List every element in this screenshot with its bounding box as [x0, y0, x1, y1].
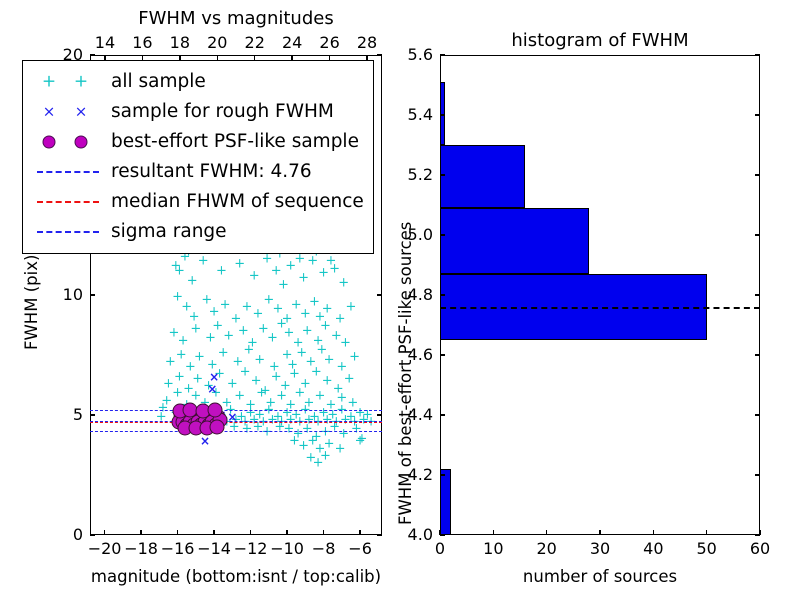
scatter-point-psf	[173, 404, 188, 419]
histogram-y-tick-label: 4.0	[408, 527, 433, 543]
histogram-x-tick-label: 50	[696, 541, 716, 557]
left-top-tick-label: 16	[132, 35, 152, 51]
scatter-point-all: +	[293, 428, 304, 441]
scatter-point-all: +	[271, 370, 282, 383]
scatter-point-all: +	[276, 389, 287, 402]
left-x-tick-label: −12	[234, 541, 268, 557]
scatter-point-all: +	[289, 368, 300, 381]
left-x-tick-label: −8	[312, 541, 336, 557]
histogram-title: histogram of FWHM	[511, 30, 688, 51]
scatter-point-all: +	[320, 449, 331, 462]
scatter-point-all: +	[232, 356, 243, 369]
scatter-point-all: +	[314, 389, 325, 402]
scatter-point-all: +	[282, 313, 293, 326]
scatter-point-all: +	[252, 308, 263, 321]
scatter-point-all: +	[205, 332, 216, 345]
scatter-point-all: +	[346, 301, 357, 314]
histogram-data-area	[440, 55, 760, 535]
left-top-tick-label: 18	[170, 35, 190, 51]
cross-marker-icon: ×	[75, 105, 88, 120]
histogram-x-tick-label: 20	[536, 541, 556, 557]
scatter-point-all: +	[178, 334, 189, 347]
scatter-point-all: +	[265, 397, 276, 410]
histogram-bar	[440, 469, 451, 535]
reference-line-sigma-lower	[90, 431, 382, 432]
histogram-y-tick-label: 4.2	[408, 467, 433, 483]
scatter-point-all: +	[349, 351, 360, 364]
dashdot-line-icon	[37, 231, 99, 233]
scatter-point-rough: ×	[174, 402, 184, 414]
histogram-y-tick-label: 5.0	[408, 227, 433, 243]
left-top-tick-label: 26	[319, 35, 339, 51]
left-plot-title: FWHM vs magnitudes	[138, 8, 333, 29]
scatter-point-all: +	[203, 380, 214, 393]
circle-marker-icon	[75, 136, 88, 149]
scatter-point-all: +	[254, 353, 265, 366]
figure-canvas: FWHM vs magnitudes magnitude (bottom:isn…	[0, 0, 800, 600]
left-top-tick-label: 14	[95, 35, 115, 51]
scatter-point-all: +	[269, 361, 280, 374]
histogram-x-tick-label: 0	[435, 541, 445, 557]
scatter-point-all: +	[335, 313, 346, 326]
scatter-point-all: +	[194, 351, 205, 364]
histogram-y-tick-label: 4.4	[408, 407, 433, 423]
histogram-x-tick-label: 30	[590, 541, 610, 557]
scatter-point-all: +	[231, 313, 242, 326]
scatter-point-all: +	[278, 279, 289, 292]
reference-line-median-fhwm-of-sequence	[90, 422, 382, 423]
scatter-point-all: +	[305, 356, 316, 369]
scatter-point-all: +	[227, 377, 238, 390]
left-top-tick-label: 28	[357, 35, 377, 51]
legend-item[interactable]: ××sample for rough FWHM	[29, 97, 365, 127]
dashed-line-icon	[37, 201, 99, 203]
circle-marker-icon	[43, 136, 56, 149]
scatter-point-all: +	[298, 272, 309, 285]
scatter-point-all: +	[263, 293, 274, 306]
scatter-point-all: +	[185, 361, 196, 374]
scatter-point-all: +	[302, 423, 313, 436]
scatter-point-all: +	[314, 442, 325, 455]
scatter-point-all: +	[294, 253, 305, 266]
scatter-point-all: +	[165, 356, 176, 369]
scatter-point-all: +	[183, 382, 194, 395]
scatter-point-all: +	[335, 442, 346, 455]
scatter-point-psf	[194, 417, 209, 432]
scatter-point-rough: ×	[200, 435, 210, 447]
legend-item-label: sigma range	[107, 223, 227, 242]
scatter-point-all: +	[294, 387, 305, 400]
histogram-y-tick-label: 5.6	[408, 47, 433, 63]
scatter-point-psf	[179, 417, 194, 432]
scatter-point-all: +	[355, 435, 366, 448]
legend-item[interactable]: ++all sample	[29, 67, 365, 97]
scatter-point-all: +	[245, 406, 256, 419]
scatter-point-all: +	[340, 337, 351, 350]
scatter-point-all: +	[283, 327, 294, 340]
scatter-point-all: +	[356, 433, 367, 446]
plus-marker-icon: +	[74, 74, 88, 91]
scatter-point-all: +	[305, 452, 316, 465]
scatter-point-psf	[208, 417, 223, 432]
histogram-x-tick-label: 40	[643, 541, 663, 557]
scatter-point-all: +	[190, 322, 201, 335]
scatter-point-all: +	[198, 255, 209, 268]
scatter-point-all: +	[318, 267, 329, 280]
scatter-point-all: +	[234, 389, 245, 402]
scatter-point-all: +	[316, 344, 327, 357]
plot-legend: ++all sample××sample for rough FWHMbest-…	[22, 60, 374, 254]
scatter-point-psf	[201, 417, 216, 432]
scatter-point-all: +	[329, 262, 340, 275]
scatter-point-all: +	[355, 406, 366, 419]
scatter-point-all: +	[309, 296, 320, 309]
dashed-line-icon	[37, 171, 99, 173]
scatter-point-all: +	[307, 255, 318, 268]
plus-marker-icon: +	[42, 74, 56, 91]
scatter-point-all: +	[161, 394, 172, 407]
legend-item-label: resultant FWHM: 4.76	[107, 163, 312, 182]
scatter-point-rough: ×	[209, 371, 219, 383]
scatter-point-all: +	[260, 385, 271, 398]
cross-marker-icon: ×	[43, 105, 56, 120]
scatter-point-all: +	[324, 437, 335, 450]
scatter-point-all: +	[296, 346, 307, 359]
left-x-tick-label: −6	[348, 541, 372, 557]
scatter-point-all: +	[298, 440, 309, 453]
scatter-point-all: +	[256, 387, 267, 400]
scatter-point-all: +	[181, 301, 192, 314]
scatter-point-all: +	[300, 308, 311, 321]
scatter-point-all: +	[344, 373, 355, 386]
scatter-point-all: +	[267, 332, 278, 345]
scatter-point-all: +	[276, 317, 287, 330]
scatter-point-all: +	[293, 337, 304, 350]
histogram-bar	[440, 208, 589, 274]
scatter-point-all: +	[158, 401, 169, 414]
scatter-point-all: +	[209, 305, 220, 318]
left-x-axis-label: magnitude (bottom:isnt / top:calib)	[91, 567, 381, 586]
scatter-point-all: +	[314, 310, 325, 323]
scatter-point-all: +	[170, 260, 181, 273]
scatter-point-all: +	[336, 392, 347, 405]
scatter-point-all: +	[271, 265, 282, 278]
scatter-point-all: +	[168, 327, 179, 340]
scatter-point-all: +	[200, 397, 211, 410]
histogram-y-tick-label: 5.2	[408, 167, 433, 183]
left-y-tick-label: 0	[73, 527, 83, 543]
scatter-point-psf	[196, 404, 211, 419]
scatter-point-all: +	[324, 353, 335, 366]
scatter-point-all: +	[189, 310, 200, 323]
scatter-point-all: +	[241, 301, 252, 314]
scatter-point-all: +	[172, 291, 183, 304]
scatter-point-all: +	[336, 361, 347, 374]
scatter-point-all: +	[243, 344, 254, 357]
scatter-point-all: +	[338, 428, 349, 441]
scatter-point-all: +	[192, 373, 203, 386]
scatter-point-all: +	[234, 257, 245, 270]
scatter-point-all: +	[174, 265, 185, 278]
scatter-point-all: +	[210, 387, 221, 400]
scatter-point-all: +	[216, 265, 227, 278]
scatter-point-all: +	[307, 435, 318, 448]
scatter-point-all: +	[320, 320, 331, 333]
scatter-point-all: +	[283, 423, 294, 436]
scatter-point-all: +	[304, 397, 315, 410]
left-x-tick-label: −10	[270, 541, 304, 557]
scatter-point-all: +	[302, 325, 313, 338]
scatter-point-all: +	[282, 349, 293, 362]
histogram-y-tick-label: 5.4	[408, 107, 433, 123]
legend-item-label: best-effort PSF-like sample	[107, 133, 359, 152]
legend-item-label: median FHWM of sequence	[107, 193, 364, 212]
scatter-point-all: +	[313, 457, 324, 470]
legend-item-label: all sample	[107, 73, 206, 92]
scatter-point-psf	[187, 417, 202, 432]
scatter-point-all: +	[174, 370, 185, 383]
scatter-point-all: +	[190, 389, 201, 402]
scatter-point-all: +	[325, 255, 336, 268]
histogram-x-axis-label: number of sources	[523, 567, 677, 586]
scatter-point-all: +	[347, 397, 358, 410]
scatter-point-all: +	[251, 375, 262, 388]
scatter-point-all: +	[170, 406, 181, 419]
histogram-bar	[440, 145, 525, 208]
left-y-tick-label: 10	[63, 287, 83, 303]
scatter-point-all: +	[262, 253, 273, 266]
histogram-x-tick-label: 60	[750, 541, 770, 557]
scatter-point-rough: ×	[207, 383, 217, 395]
histogram-reference-line	[440, 307, 760, 309]
scatter-point-all: +	[287, 358, 298, 371]
reference-line-sigma-upper	[90, 410, 382, 411]
scatter-point-all: +	[205, 406, 216, 419]
scatter-point-all: +	[247, 337, 258, 350]
scatter-point-all: +	[163, 377, 174, 390]
scatter-point-all: +	[285, 260, 296, 273]
scatter-point-all: +	[172, 387, 183, 400]
scatter-point-all: +	[221, 397, 232, 410]
left-top-tick-label: 20	[207, 35, 227, 51]
scatter-point-all: +	[249, 269, 260, 282]
scatter-point-all: +	[201, 293, 212, 306]
scatter-point-all: +	[280, 380, 291, 393]
scatter-point-rough: ×	[204, 407, 214, 419]
left-y-tick-label: 5	[73, 407, 83, 423]
scatter-point-all: +	[207, 358, 218, 371]
scatter-point-all: +	[187, 274, 198, 287]
scatter-point-all: +	[318, 406, 329, 419]
scatter-point-all: +	[220, 298, 231, 311]
scatter-point-all: +	[238, 325, 249, 338]
left-top-tick-label: 22	[245, 35, 265, 51]
scatter-point-all: +	[241, 423, 252, 436]
scatter-point-all: +	[291, 298, 302, 311]
scatter-point-all: +	[338, 277, 349, 290]
scatter-point-all: +	[176, 349, 187, 362]
scatter-point-all: +	[351, 423, 362, 436]
legend-item[interactable]: sigma range	[29, 217, 365, 247]
legend-item-label: sample for rough FWHM	[107, 103, 334, 122]
left-x-tick-label: −14	[197, 541, 231, 557]
scatter-point-all: +	[313, 334, 324, 347]
scatter-point-all: +	[218, 346, 229, 359]
left-x-tick-label: −20	[88, 541, 122, 557]
scatter-point-all: +	[282, 406, 293, 419]
scatter-point-all: +	[331, 329, 342, 342]
left-y-axis-label: FWHM (pix)	[22, 255, 41, 350]
left-x-tick-label: −18	[124, 541, 158, 557]
scatter-point-all: +	[212, 320, 223, 333]
scatter-point-all: +	[214, 368, 225, 381]
scatter-point-all: +	[333, 382, 344, 395]
scatter-point-all: +	[223, 329, 234, 342]
scatter-point-all: +	[322, 375, 333, 388]
left-x-tick-label: −16	[161, 541, 195, 557]
left-top-tick-label: 24	[282, 35, 302, 51]
legend-item[interactable]: best-effort PSF-like sample	[29, 127, 365, 157]
legend-item[interactable]: resultant FWHM: 4.76	[29, 157, 365, 187]
scatter-point-all: +	[289, 435, 300, 448]
scatter-point-all: +	[273, 303, 284, 316]
scatter-point-all: +	[311, 365, 322, 378]
scatter-point-all: +	[258, 322, 269, 335]
histogram-x-tick-label: 10	[483, 541, 503, 557]
scatter-point-all: +	[322, 303, 333, 316]
legend-item[interactable]: median FHWM of sequence	[29, 187, 365, 217]
histogram-y-tick-label: 4.6	[408, 347, 433, 363]
scatter-point-all: +	[300, 377, 311, 390]
scatter-point-all: +	[240, 365, 251, 378]
histogram-y-tick-label: 4.8	[408, 287, 433, 303]
